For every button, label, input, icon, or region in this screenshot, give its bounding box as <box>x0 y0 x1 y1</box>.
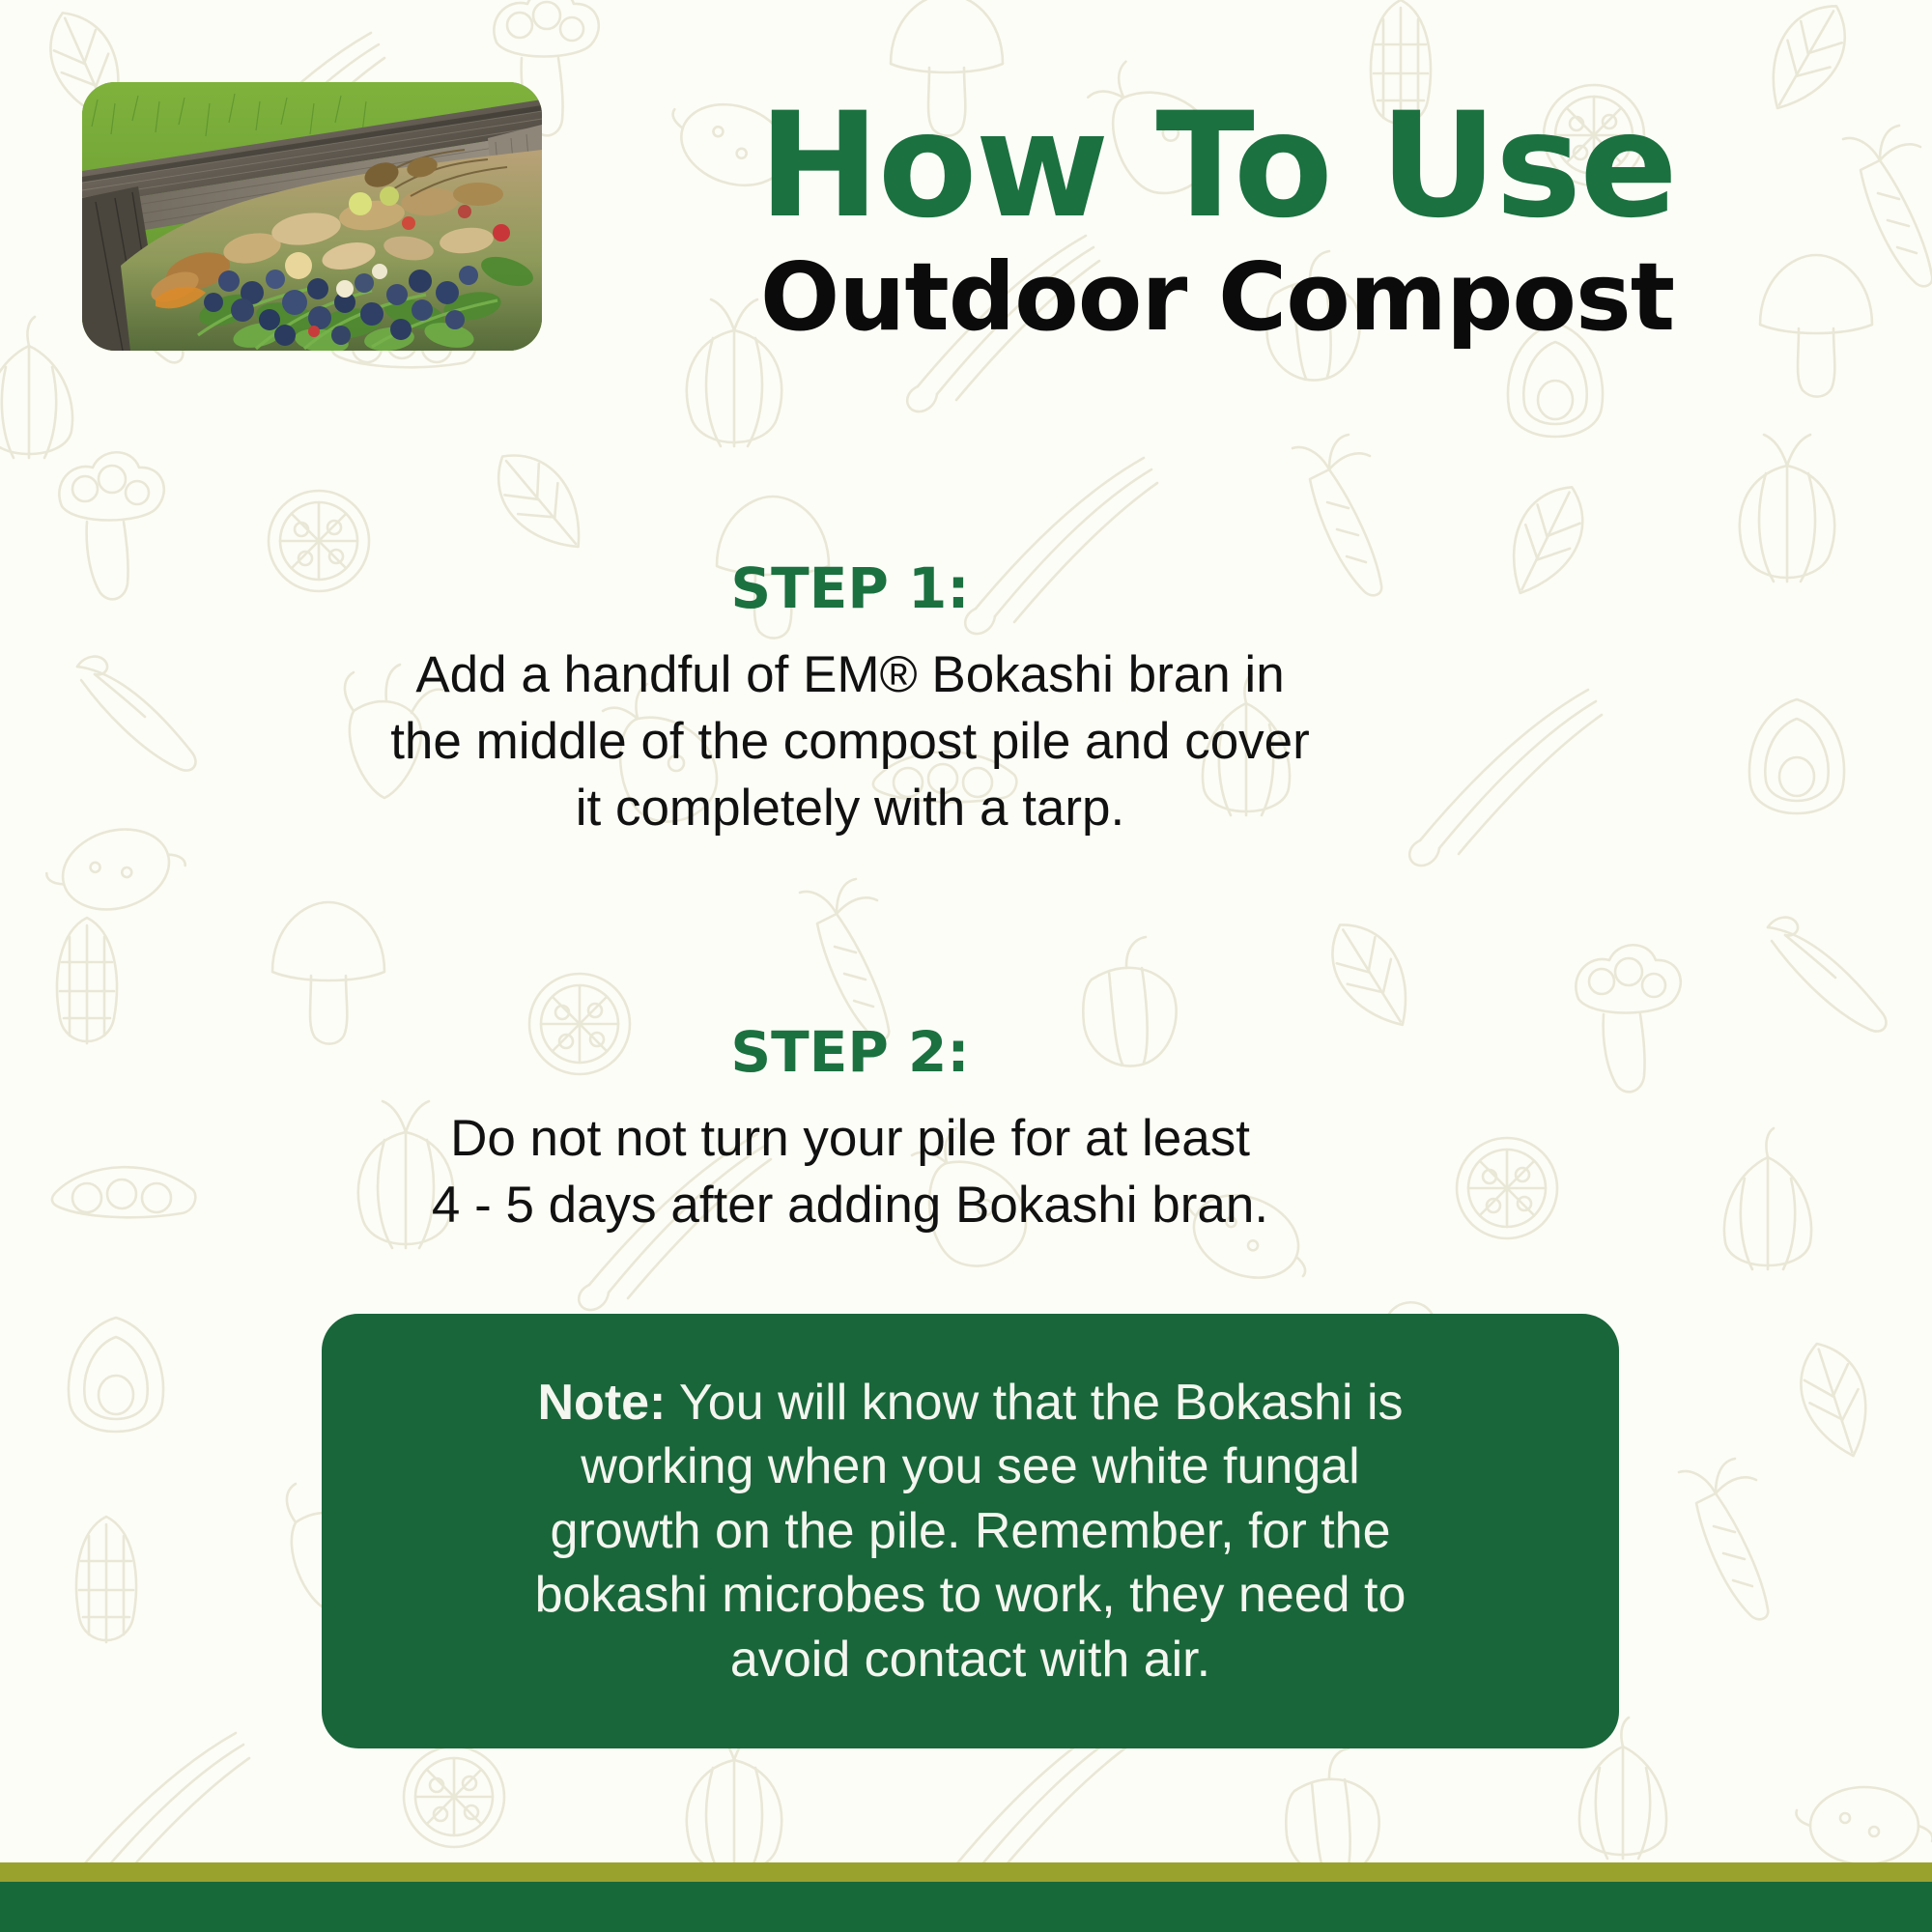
page-subtitle: Outdoor Compost <box>580 248 1855 347</box>
infographic-poster: How To Use Outdoor Compost STEP 1: Add a… <box>0 0 1932 1932</box>
note-line-4: bokashi microbes to work, they need to <box>535 1563 1406 1628</box>
note-text: Note: You will know that the Bokashi is … <box>535 1371 1406 1692</box>
step-2-line-1: Do not not turn your pile for at least <box>241 1106 1459 1173</box>
step-2-body: Do not not turn your pile for at least 4… <box>241 1106 1459 1239</box>
step-2-section: STEP 2: Do not not turn your pile for at… <box>241 1019 1459 1239</box>
step-1-section: STEP 1: Add a handful of EM® Bokashi bra… <box>241 555 1459 842</box>
step-1-line-3: it completely with a tarp. <box>241 776 1459 842</box>
footer-olive-bar <box>0 1862 1932 1882</box>
note-line-1-text: You will know that the Bokashi is <box>666 1375 1403 1431</box>
step-1-line-1: Add a handful of EM® Bokashi bran in <box>241 642 1459 709</box>
step-2-label: STEP 2: <box>241 1019 1459 1085</box>
note-line-1: Note: You will know that the Bokashi is <box>535 1371 1406 1435</box>
step-2-line-2: 4 - 5 days after adding Bokashi bran. <box>241 1173 1459 1239</box>
note-line-2: working when you see white fungal <box>535 1435 1406 1499</box>
step-1-body: Add a handful of EM® Bokashi bran in the… <box>241 642 1459 842</box>
poster-header: How To Use Outdoor Compost <box>580 93 1855 347</box>
note-callout-card: Note: You will know that the Bokashi is … <box>322 1314 1619 1748</box>
note-line-3: growth on the pile. Remember, for the <box>535 1499 1406 1564</box>
step-1-line-2: the middle of the compost pile and cover <box>241 709 1459 776</box>
page-title: How To Use <box>580 93 1855 241</box>
step-1-label: STEP 1: <box>241 555 1459 621</box>
footer-green-bar <box>0 1882 1932 1932</box>
note-line-5: avoid contact with air. <box>535 1628 1406 1692</box>
note-lead-label: Note: <box>538 1375 667 1431</box>
compost-bin-photo <box>82 82 542 351</box>
